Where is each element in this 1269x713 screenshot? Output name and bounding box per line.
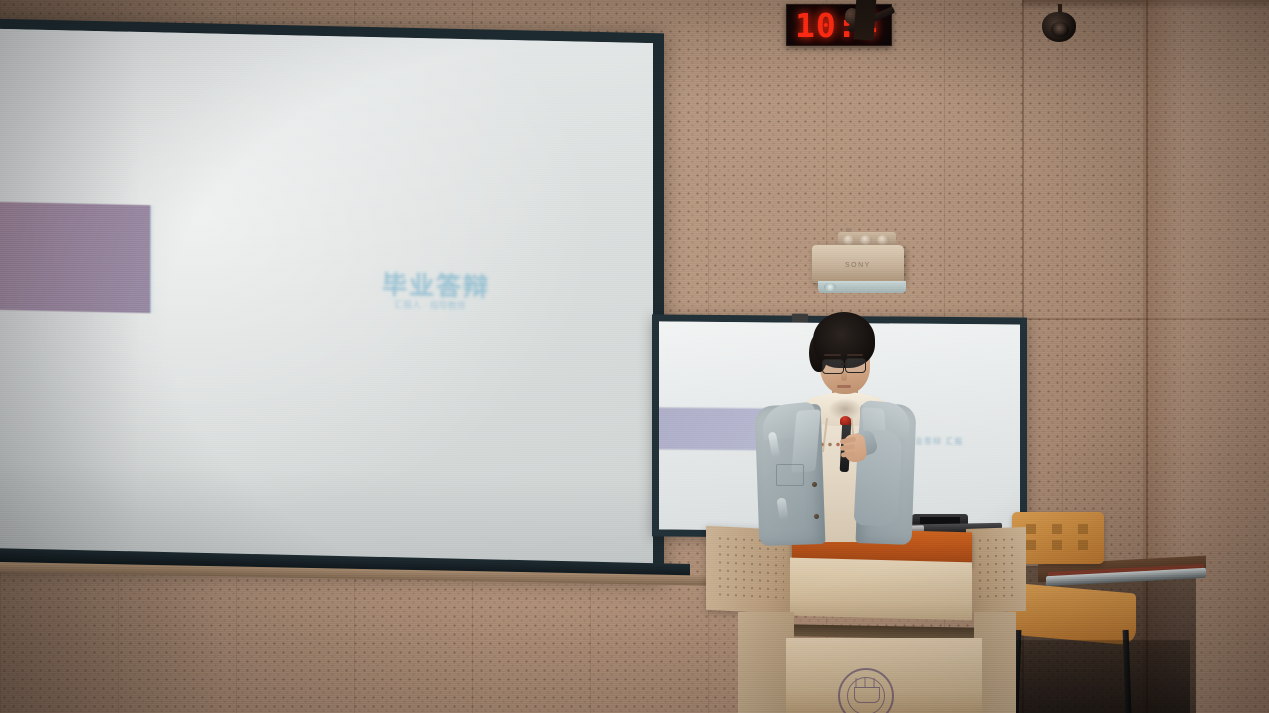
digital-wall-clock: 10:4 [786, 4, 892, 46]
presenter-mouth [837, 385, 851, 388]
podium-perforation [976, 535, 1016, 598]
projector-lens [824, 283, 836, 291]
clock-occluder [853, 0, 876, 41]
projector-knob [860, 235, 872, 245]
chair-back-cutouts [1026, 524, 1088, 550]
projector-brand-label: SONY [845, 262, 871, 269]
projection-surface: 毕业答辩 汇报人 · 指导教师 [0, 29, 653, 571]
projector-knob [843, 235, 855, 245]
presenter-person [740, 312, 910, 542]
jacket-pocket-left [776, 464, 804, 486]
jacket-button [814, 514, 819, 519]
speaker-cone-icon [1051, 22, 1069, 37]
microphone-head [840, 416, 851, 425]
eyeglasses-bridge [841, 363, 847, 365]
projector-knob [877, 235, 889, 245]
eyeglasses-lens-left [822, 359, 844, 374]
lecture-hall-photo: 毕业答辩 汇报人 · 指导教师 毕业答辩 汇报 10:4 SONY [0, 0, 1269, 713]
podium-right-wing [966, 527, 1026, 613]
projection-vignette [0, 29, 653, 571]
hand-finger [841, 452, 855, 458]
floor-shadow [990, 640, 1190, 713]
seal-inner-shape [854, 687, 880, 703]
main-projection-screen: 毕业答辩 汇报人 · 指导教师 [0, 19, 664, 584]
eyeglasses-lens-right [845, 358, 866, 373]
wooden-chair-seat [1008, 582, 1136, 645]
podium-front-panel [790, 558, 972, 621]
jacket-button [812, 482, 817, 487]
